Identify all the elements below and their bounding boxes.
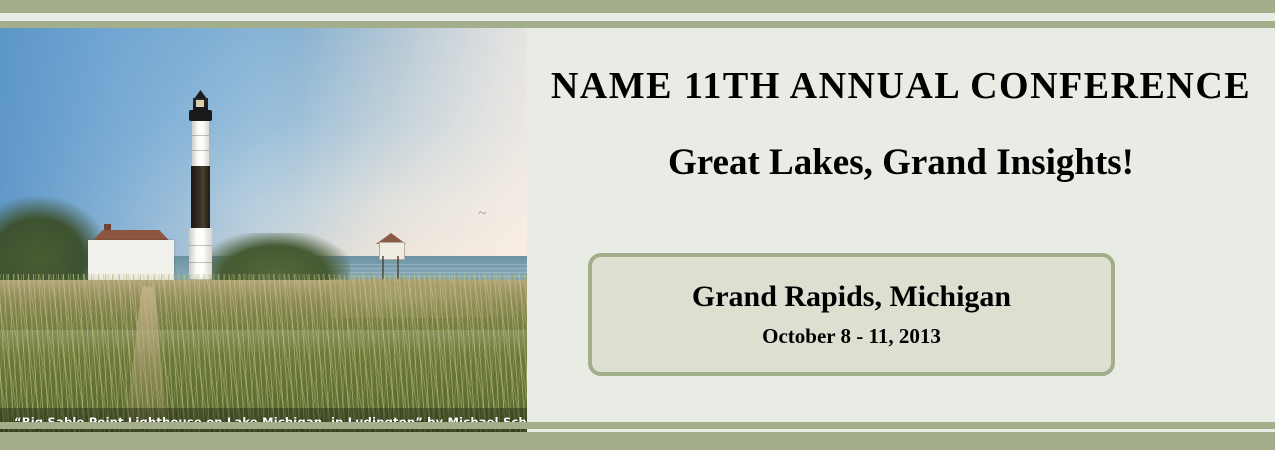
conference-tagline: Great Lakes, Grand Insights! xyxy=(527,141,1275,184)
seagull-icon: ~ xyxy=(478,208,504,220)
location-date-box: Grand Rapids, Michigan October 8 - 11, 2… xyxy=(588,253,1115,376)
conference-city: Grand Rapids, Michigan xyxy=(692,280,1011,314)
tower-seam xyxy=(192,135,209,136)
banner-content: NAME 11TH ANNUAL CONFERENCE Great Lakes,… xyxy=(527,28,1275,422)
tower-white-upper-section xyxy=(192,121,209,166)
lighthouse-photo: ~ “Big Sable Point Lighthouse on Lake Mi… xyxy=(0,28,527,450)
lighthouse-tower xyxy=(186,90,215,302)
tower-seam xyxy=(189,245,212,246)
lantern-glass xyxy=(196,100,204,107)
top-thin-rule-photo-overlay xyxy=(0,21,527,28)
lantern-gallery xyxy=(189,110,212,121)
bottom-thick-rule-photo-overlay xyxy=(0,432,527,450)
conference-title: NAME 11TH ANNUAL CONFERENCE xyxy=(527,64,1275,108)
conference-banner: ~ “Big Sable Point Lighthouse on Lake Mi… xyxy=(0,0,1275,450)
bottom-thin-rule-photo-overlay xyxy=(0,422,527,429)
sky-haze xyxy=(300,28,527,260)
conference-dates: October 8 - 11, 2013 xyxy=(762,324,941,349)
tower-seam xyxy=(192,150,209,151)
tower-seam xyxy=(189,262,212,263)
tower-black-band xyxy=(191,166,210,228)
top-thick-rule-photo-overlay xyxy=(0,0,527,13)
